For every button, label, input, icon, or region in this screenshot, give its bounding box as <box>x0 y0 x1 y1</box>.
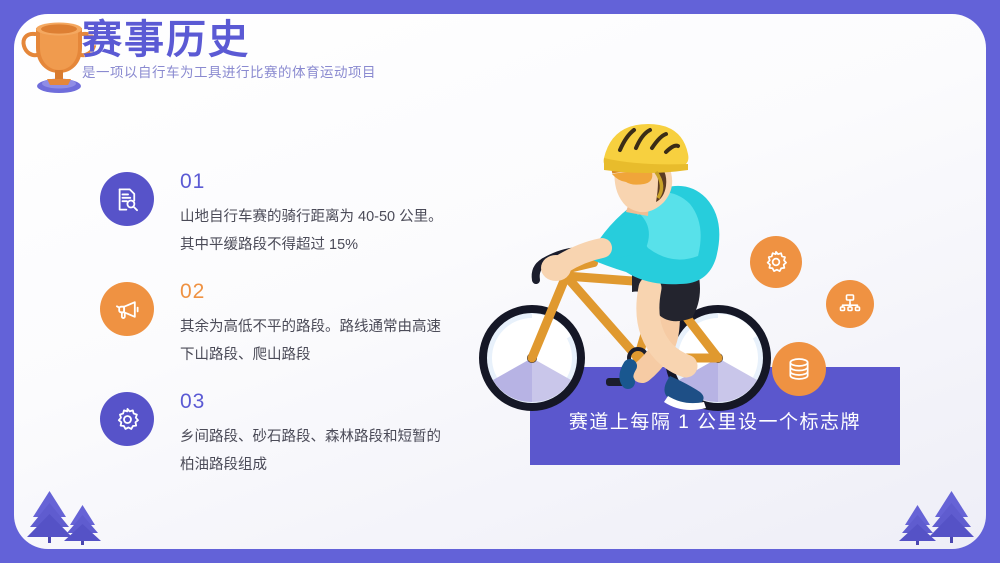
illustration-stage: 赛道上每隔 1 公里设一个标志牌 <box>470 120 930 480</box>
list-item-text-line: 柏油路段组成 <box>180 451 460 479</box>
sitemap-icon <box>838 292 862 316</box>
list-item[interactable]: 03 乡间路段、砂石路段、森林路段和短暂的 柏油路段组成 <box>100 390 460 488</box>
bubble-database[interactable] <box>772 342 826 396</box>
list-item-text-line: 下山路段、爬山路段 <box>180 341 460 369</box>
banner-text: 赛道上每隔 1 公里设一个标志牌 <box>530 410 900 436</box>
pine-tree-short <box>64 505 101 545</box>
megaphone-icon <box>114 296 141 323</box>
list-item-text: 其余为高低不平的路段。路线通常由高速 下山路段、爬山路段 <box>180 313 460 369</box>
list-item[interactable]: 02 其余为高低不平的路段。路线通常由高速 下山路段、爬山路段 <box>100 280 460 378</box>
list-item-badge-03 <box>100 392 154 446</box>
slide-root: 赛事历史 是一项以自行车为工具进行比赛的体育运动项目 01 山地自行车赛的骑行距… <box>0 0 1000 563</box>
list-item-text-line: 其余为高低不平的路段。路线通常由高速 <box>180 313 460 341</box>
bubble-sitemap[interactable] <box>826 280 874 328</box>
database-icon <box>786 356 812 382</box>
list-item-text-line: 其中平缓路段不得超过 15% <box>180 231 460 259</box>
list-item-text: 山地自行车赛的骑行距离为 40-50 公里。 其中平缓路段不得超过 15% <box>180 203 460 259</box>
gear-icon <box>763 249 789 275</box>
feature-list: 01 山地自行车赛的骑行距离为 40-50 公里。 其中平缓路段不得超过 15%… <box>100 170 460 500</box>
bubble-gear[interactable] <box>750 236 802 288</box>
gear-icon <box>114 406 141 433</box>
document-search-icon <box>114 186 141 213</box>
list-item-badge-02 <box>100 282 154 336</box>
pine-tree-tall <box>27 491 72 543</box>
list-item-number: 02 <box>180 280 460 304</box>
list-item[interactable]: 01 山地自行车赛的骑行距离为 40-50 公里。 其中平缓路段不得超过 15% <box>100 170 460 268</box>
list-item-text-line: 山地自行车赛的骑行距离为 40-50 公里。 <box>180 203 460 231</box>
list-item-text-line: 乡间路段、砂石路段、森林路段和短暂的 <box>180 423 460 451</box>
pine-trees-right <box>872 487 982 549</box>
list-item-badge-01 <box>100 172 154 226</box>
pine-tree-tall <box>929 491 974 543</box>
list-item-number: 03 <box>180 390 460 414</box>
list-item-text: 乡间路段、砂石路段、森林路段和短暂的 柏油路段组成 <box>180 423 460 479</box>
pine-trees-left <box>18 487 128 549</box>
list-item-number: 01 <box>180 170 460 194</box>
pine-tree-short <box>899 505 936 545</box>
